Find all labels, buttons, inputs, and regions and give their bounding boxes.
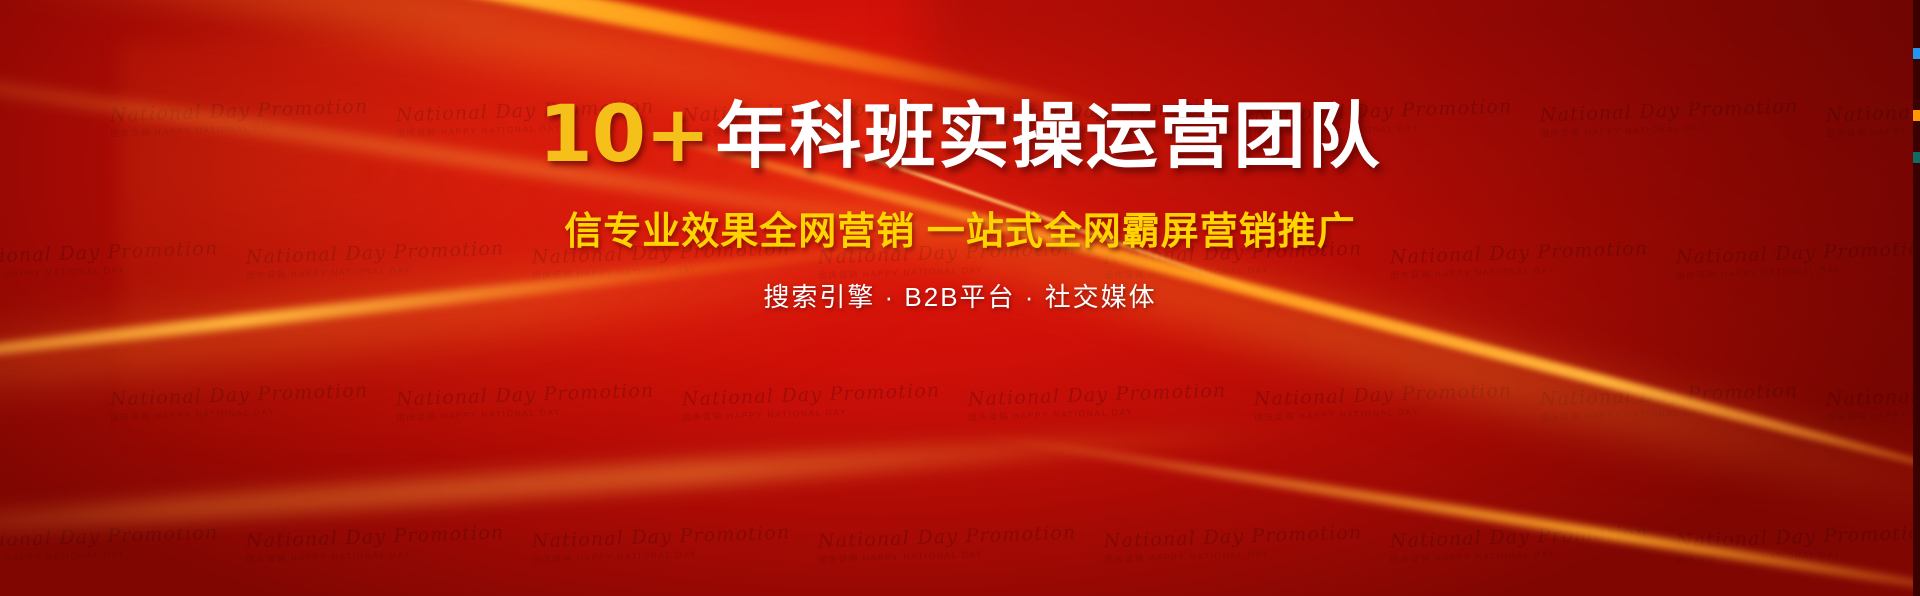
sliver-teal-marker[interactable] (1913, 152, 1920, 163)
sliver-gold-marker[interactable] (1913, 110, 1920, 121)
headline-number: 10+ (539, 96, 710, 174)
banner-content: 10+ 年科班实操运营团队 信专业效果全网营销 一站式全网霸屏营销推广 搜索引擎… (0, 0, 1920, 596)
page-edge-sliver (1913, 0, 1920, 596)
sliver-blue-marker[interactable] (1913, 48, 1920, 59)
promo-banner: National Day Promotion国庆促销 HAPPY NATIONA… (0, 0, 1920, 596)
headline-text: 年科班实操运营团队 (715, 101, 1381, 173)
subheadline: 信专业效果全网营销 一站式全网霸屏营销推广 (564, 200, 1356, 255)
tagline: 搜索引擎 · B2B平台 · 社交媒体 (763, 277, 1156, 314)
headline: 10+ 年科班实操运营团队 (539, 96, 1382, 174)
